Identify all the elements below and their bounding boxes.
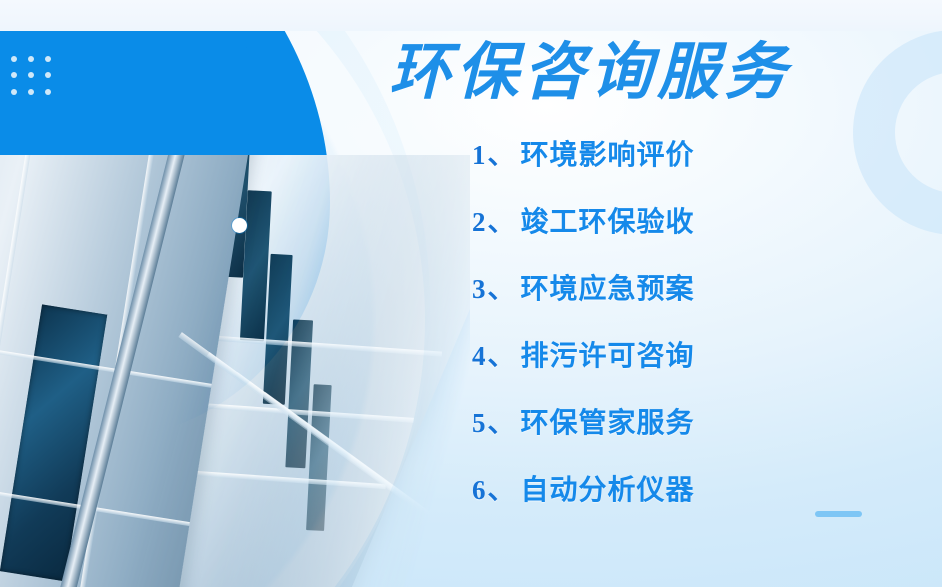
- list-item-separator: 、: [488, 401, 515, 440]
- list-item-label: 环境应急预案: [521, 267, 695, 307]
- list-item[interactable]: 1 、 环境影响评价: [472, 133, 872, 200]
- list-item-number: 5: [472, 408, 486, 439]
- slide-canvas: 环保咨询服务 1 、 环境影响评价 2 、 竣工环保验收 3 、 环境应急预案 …: [0, 0, 942, 587]
- list-item[interactable]: 2 、 竣工环保验收: [472, 200, 872, 267]
- list-item-label: 环保管家服务: [521, 401, 695, 441]
- list-item-separator: 、: [488, 200, 515, 239]
- list-item-label: 环境影响评价: [521, 133, 695, 173]
- accent-bar: [815, 511, 862, 517]
- list-item[interactable]: 5 、 环保管家服务: [472, 401, 872, 468]
- list-item-number: 3: [472, 274, 486, 305]
- list-item-number: 4: [472, 341, 486, 372]
- list-item-separator: 、: [488, 267, 515, 306]
- list-item-separator: 、: [488, 468, 515, 507]
- list-item-separator: 、: [488, 334, 515, 373]
- list-item-number: 1: [472, 140, 486, 171]
- list-item-separator: 、: [488, 133, 515, 172]
- top-white-band: [0, 0, 942, 31]
- list-item-label: 自动分析仪器: [521, 468, 695, 508]
- list-item[interactable]: 3 、 环境应急预案: [472, 267, 872, 334]
- page-title: 环保咨询服务: [380, 33, 800, 113]
- list-item-label: 排污许可咨询: [521, 334, 695, 374]
- dot-grid-icon: [11, 56, 53, 96]
- list-item-label: 竣工环保验收: [521, 200, 695, 240]
- list-item-number: 2: [472, 207, 486, 238]
- list-item[interactable]: 4 、 排污许可咨询: [472, 334, 872, 401]
- list-item[interactable]: 6 、 自动分析仪器: [472, 468, 872, 535]
- arc-circle-marker-icon: [232, 218, 247, 233]
- service-list: 1 、 环境影响评价 2 、 竣工环保验收 3 、 环境应急预案 4 、 排污许…: [472, 133, 872, 535]
- list-item-number: 6: [472, 475, 486, 506]
